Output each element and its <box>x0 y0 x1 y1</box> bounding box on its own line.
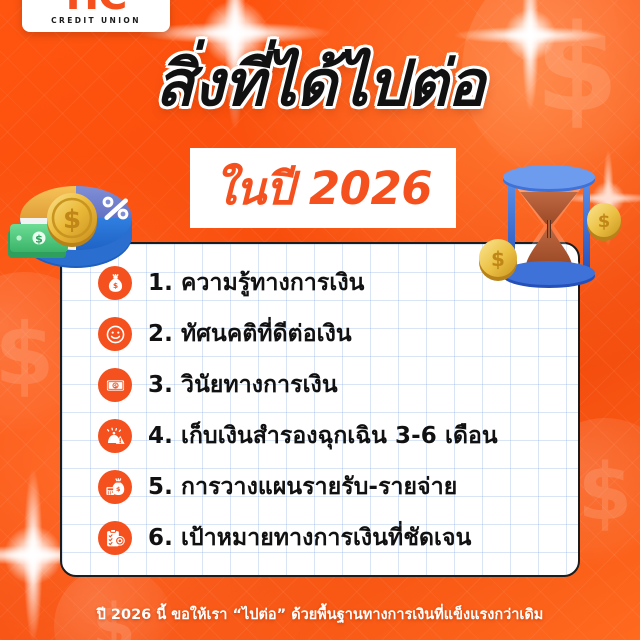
list-item: 6. เป้าหมายทางการเงินที่ชัดเจน <box>98 515 556 561</box>
svg-text:$: $ <box>116 485 121 493</box>
list-item-label: 6. เป้าหมายทางการเงินที่ชัดเจน <box>148 520 471 556</box>
list-item-label: 2. ทัศนคติที่ดีต่อเงิน <box>148 316 352 352</box>
list-item-label: 1. ความรู้ทางการเงิน <box>148 265 365 301</box>
poster-canvas: $ $ $ $ HC CREDIT UNION สิ่งที่ได้ไปต่อ … <box>0 0 640 640</box>
subtitle-banner: ในปี 2026 <box>190 148 456 228</box>
page-subtitle: ในปี 2026 <box>214 166 432 211</box>
logo-mark: HC <box>66 0 127 12</box>
list-item: $ 5. การวางแผนรายรับ-รายจ่าย <box>98 464 556 510</box>
emergency-alert-icon <box>98 419 132 453</box>
svg-text:$: $ <box>113 383 116 389</box>
list-item-label: 3. วินัยทางการเงิน <box>148 367 338 403</box>
money-bag-icon: $ <box>98 266 132 300</box>
svg-text:$: $ <box>112 281 117 290</box>
list-item: $ 3. วินัยทางการเงิน <box>98 362 556 408</box>
list-card: $ 1. ความรู้ทางการเงิน 2. ทัศนคติที่ดีต่… <box>60 242 580 577</box>
svg-text:$: $ <box>35 233 43 246</box>
budget-bag-icon: $ <box>98 470 132 504</box>
list-item-label: 4. เก็บเงินสำรองฉุกเฉิน 3-6 เดือน <box>148 418 498 454</box>
svg-text:$: $ <box>63 205 81 235</box>
footer-text: ปี 2026 นี้ ขอให้เรา “ไปต่อ” ด้วยพื้นฐาน… <box>0 603 640 626</box>
svg-text:$: $ <box>598 211 611 232</box>
checklist: $ 1. ความรู้ทางการเงิน 2. ทัศนคติที่ดีต่… <box>62 244 578 575</box>
smiley-face-icon <box>98 317 132 351</box>
banknote-icon: $ <box>98 368 132 402</box>
list-item: 4. เก็บเงินสำรองฉุกเฉิน 3-6 เดือน <box>98 413 556 459</box>
sparkle-star-icon <box>560 150 640 246</box>
clipboard-target-icon <box>98 521 132 555</box>
list-item: $ 1. ความรู้ทางการเงิน <box>98 260 556 306</box>
list-item: 2. ทัศนคติที่ดีต่อเงิน <box>98 311 556 357</box>
brand-logo: HC CREDIT UNION <box>22 0 170 32</box>
page-title: สิ่งที่ได้ไปต่อ <box>0 52 640 115</box>
logo-subtitle: CREDIT UNION <box>51 16 141 25</box>
list-item-label: 5. การวางแผนรายรับ-รายจ่าย <box>148 469 457 505</box>
